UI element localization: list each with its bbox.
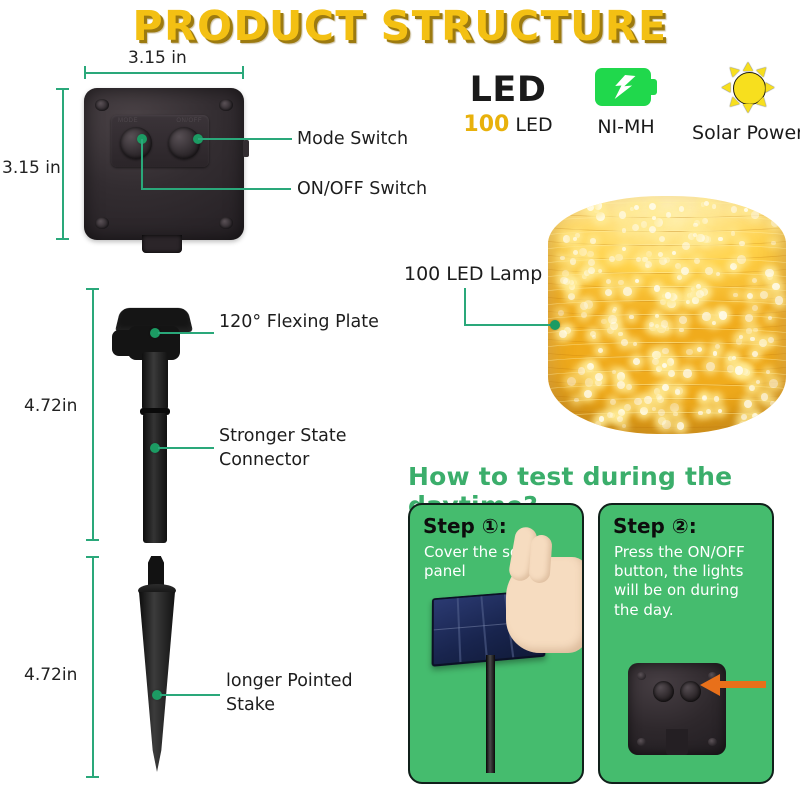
pole-dimension-cap-top	[86, 288, 99, 290]
led-point	[698, 411, 702, 415]
led-point	[771, 241, 776, 246]
pole-height-label: 4.72in	[24, 396, 77, 416]
led-point	[644, 396, 652, 404]
led-point	[634, 398, 642, 406]
mode-switch-leader-vertical	[141, 139, 143, 189]
led-point	[675, 263, 681, 269]
led-point	[753, 328, 757, 332]
led-point	[731, 206, 737, 212]
led-point	[560, 256, 565, 261]
onoff-switch-leader-line	[198, 138, 292, 140]
battery-terminal	[651, 79, 657, 95]
callout-stake-line2: Stake	[226, 694, 353, 718]
mini-onoff-button	[680, 681, 701, 702]
badge-led-title: LED	[460, 70, 556, 110]
led-point	[702, 312, 711, 321]
panel-side-lug	[243, 140, 249, 157]
coil-body	[548, 196, 786, 434]
led-point	[677, 275, 682, 280]
led-lamp-leader-vertical	[464, 288, 466, 326]
led-point	[617, 372, 625, 380]
led-point	[608, 315, 617, 324]
led-point	[686, 349, 693, 356]
height-dimension-cap-bottom	[56, 238, 69, 240]
led-point	[598, 348, 603, 353]
led-point	[574, 398, 578, 402]
callout-connector-line1: Stronger State	[219, 425, 347, 449]
stake-dimension-line	[92, 556, 94, 778]
led-point	[679, 316, 687, 324]
led-point	[655, 324, 659, 328]
led-point	[646, 251, 652, 257]
screw-icon	[95, 217, 109, 229]
led-point	[558, 310, 564, 316]
callout-mode-switch: Mode Switch	[297, 128, 408, 152]
led-point	[770, 401, 775, 406]
led-point	[696, 234, 705, 243]
led-point	[595, 373, 603, 381]
stake-top-tip	[148, 556, 164, 586]
pole-lower-section	[143, 413, 167, 543]
led-point	[766, 201, 772, 207]
led-point	[768, 316, 772, 320]
led-point	[573, 250, 578, 255]
width-dimension-cap-left	[84, 66, 86, 79]
pointer-arrow-shaft	[718, 681, 766, 688]
width-dimension-cap-right	[242, 66, 244, 79]
led-point	[607, 412, 613, 418]
sun-ray	[743, 62, 753, 71]
led-point	[682, 242, 690, 250]
led-point	[592, 335, 597, 340]
pole-upper-section	[142, 352, 168, 410]
width-dimension-line	[84, 72, 244, 74]
step-1-title: Step ①:	[423, 514, 507, 538]
led-point	[662, 420, 671, 429]
mode-switch-leader-horizontal	[141, 188, 291, 190]
led-point	[563, 235, 571, 243]
panel-bottom-tab	[142, 235, 182, 253]
badge-led: LED 100 LED	[460, 70, 556, 137]
led-point	[640, 407, 648, 415]
led-point	[618, 332, 623, 337]
led-point	[617, 416, 623, 422]
stake-dimension-cap-top	[86, 556, 99, 558]
led-point	[744, 208, 748, 212]
led-point	[677, 422, 684, 429]
callout-pointed-stake: longer Pointed Stake	[226, 670, 353, 717]
led-point	[599, 416, 604, 421]
step-card-2: Step ②: Press the ON/OFF button, the lig…	[598, 503, 774, 784]
sun-ray	[766, 83, 775, 93]
solar-panel-pole	[486, 655, 495, 773]
led-point	[686, 300, 690, 304]
sun-ray	[743, 104, 753, 113]
badge-battery-label: NI-MH	[576, 116, 676, 138]
screw-icon	[219, 99, 233, 111]
led-point	[752, 305, 758, 311]
led-point	[772, 283, 780, 291]
led-point	[718, 237, 723, 242]
led-point	[570, 258, 577, 265]
page-title: PRODUCT STRUCTURE	[0, 2, 800, 50]
onoff-emboss-label: ON/OFF	[176, 118, 202, 124]
led-point	[692, 297, 698, 303]
led-point	[594, 201, 602, 209]
infographic-canvas: PRODUCT STRUCTURE 3.15 in 3.15 in MODE O…	[0, 0, 800, 800]
hand-finger	[528, 534, 552, 583]
height-dimension-line	[62, 88, 64, 240]
height-dimension-cap-top	[56, 88, 69, 90]
led-point	[587, 251, 593, 257]
led-point	[714, 396, 720, 402]
led-point	[696, 284, 702, 290]
badge-solar-label: Solar Power	[684, 122, 800, 144]
led-point	[673, 412, 677, 416]
badge-solar: Solar Power	[684, 62, 800, 144]
led-point	[693, 233, 697, 237]
led-point	[580, 302, 588, 310]
led-point	[623, 287, 632, 296]
led-point	[578, 367, 586, 375]
led-point	[634, 205, 639, 210]
led-point	[621, 339, 628, 346]
battery-icon	[595, 68, 657, 106]
led-point	[749, 385, 755, 391]
screw-icon	[219, 217, 233, 229]
pole-dimension-line	[92, 288, 94, 541]
led-point	[590, 238, 595, 243]
led-point	[751, 211, 758, 218]
led-point	[609, 256, 615, 262]
led-point	[712, 204, 717, 209]
led-point	[765, 269, 773, 277]
led-point	[618, 409, 625, 416]
led-point	[739, 421, 747, 429]
led-point	[683, 369, 692, 378]
led-lamp-callout-dot	[550, 320, 560, 330]
led-point	[622, 424, 626, 428]
led-point	[768, 337, 774, 343]
pointed-stake-image	[139, 592, 175, 772]
led-point	[735, 366, 744, 375]
callout-onoff-switch: ON/OFF Switch	[297, 178, 427, 202]
stake-height-label: 4.72in	[24, 665, 77, 685]
led-lamp-leader-horizontal	[464, 324, 554, 326]
led-point	[679, 328, 684, 333]
led-point	[744, 400, 752, 408]
flexing-plate-leader-line	[158, 332, 214, 334]
led-point	[733, 293, 737, 297]
callout-connector: Stronger State Connector	[219, 425, 347, 472]
pole-dimension-cap-bottom	[86, 539, 99, 541]
led-point	[662, 348, 669, 355]
led-point	[771, 421, 776, 426]
solar-panel-back-image: MODE ON/OFF	[84, 88, 244, 240]
led-point	[705, 267, 713, 275]
led-string-coil-image	[548, 196, 786, 434]
led-point	[612, 370, 617, 375]
led-point	[737, 255, 746, 264]
stake-dimension-cap-bottom	[86, 776, 99, 778]
led-point	[558, 420, 565, 427]
led-point	[715, 344, 720, 349]
led-point	[641, 221, 648, 228]
led-point	[706, 409, 711, 414]
panel-height-label: 3.15 in	[2, 158, 61, 178]
callout-flexing-plate: 120° Flexing Plate	[219, 311, 379, 335]
led-point	[752, 413, 758, 419]
led-point	[666, 212, 671, 217]
led-point	[694, 258, 700, 264]
led-point	[665, 292, 671, 298]
led-point	[585, 378, 594, 387]
connector-leader-line	[158, 447, 214, 449]
step-card-1: Step ①: Cover the solar panel	[408, 503, 584, 784]
badge-led-sub: 100 LED	[460, 112, 556, 137]
led-point	[693, 223, 697, 227]
step-2-title: Step ②:	[613, 514, 697, 538]
led-point	[670, 403, 679, 412]
led-point	[622, 247, 626, 251]
callout-connector-line2: Connector	[219, 449, 347, 473]
led-point	[706, 362, 715, 371]
callout-stake-line1: longer Pointed	[226, 670, 353, 694]
led-point	[587, 363, 594, 370]
mini-mode-button	[653, 681, 674, 702]
led-point	[752, 351, 758, 357]
badge-led-count: 100	[463, 112, 509, 137]
led-point	[769, 379, 778, 388]
led-point	[560, 277, 568, 285]
callout-led-lamp: 100 LED Lamp	[404, 262, 542, 288]
pointer-arrow-icon	[700, 674, 720, 696]
led-point	[727, 365, 735, 373]
led-point	[745, 314, 753, 322]
badge-led-unit: LED	[515, 114, 552, 136]
led-point	[618, 280, 624, 286]
led-point	[626, 384, 632, 390]
led-point	[567, 377, 576, 386]
led-point	[771, 219, 779, 227]
led-point	[719, 311, 728, 320]
led-point	[746, 328, 752, 334]
led-point	[681, 267, 689, 275]
screw-icon	[95, 99, 109, 111]
mode-emboss-label: MODE	[118, 118, 138, 124]
badge-battery: NI-MH	[576, 68, 676, 138]
led-point	[584, 390, 592, 398]
stake-leader-line	[160, 694, 220, 696]
led-point	[661, 320, 668, 327]
led-point	[596, 212, 605, 221]
panel-width-label: 3.15 in	[128, 48, 187, 68]
feature-badges: LED 100 LED NI-MH	[460, 66, 795, 162]
sun-icon	[720, 62, 776, 114]
step-2-body: Press the ON/OFF button, the lights will…	[614, 543, 762, 620]
led-point	[559, 330, 567, 338]
led-point	[656, 366, 662, 372]
sun-ray	[722, 83, 731, 93]
mode-switch-button[interactable]	[120, 127, 152, 159]
led-point	[761, 393, 769, 401]
